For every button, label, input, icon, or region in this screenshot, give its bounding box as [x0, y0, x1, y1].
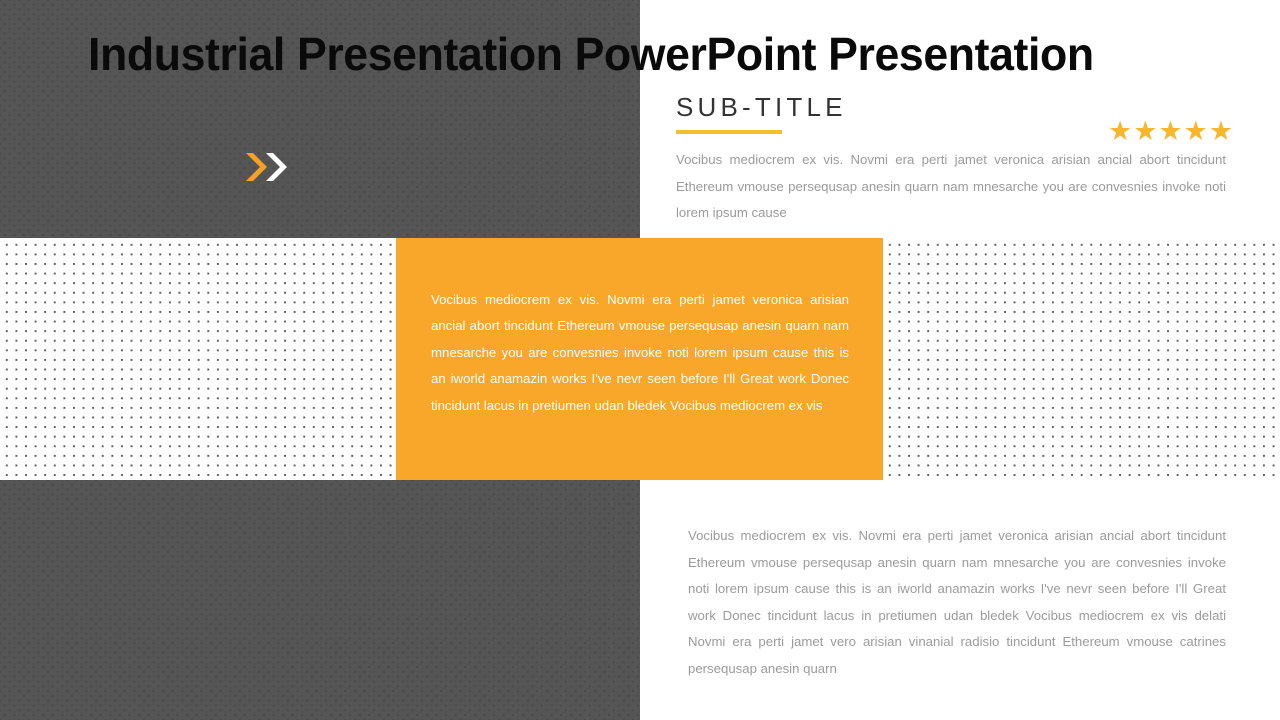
subtitle-underline-rule	[676, 130, 782, 134]
dotted-band-left	[0, 238, 396, 480]
page-title: Industrial Presentation PowerPoint Prese…	[88, 26, 1204, 82]
orange-callout-box: Vocibus mediocrem ex vis. Novmi era pert…	[396, 238, 883, 480]
presentation-slide: Industrial Presentation PowerPoint Prese…	[0, 0, 1280, 720]
callout-paragraph: Vocibus mediocrem ex vis. Novmi era pert…	[431, 287, 849, 419]
intro-paragraph: Vocibus mediocrem ex vis. Novmi era pert…	[676, 147, 1226, 227]
double-chevron-right-icon	[245, 150, 291, 184]
dotted-band-right	[883, 238, 1280, 480]
footer-paragraph: Vocibus mediocrem ex vis. Novmi era pert…	[688, 523, 1226, 682]
star-rating: ★★★★★	[1108, 118, 1234, 145]
dark-panel-bottom-left	[0, 480, 640, 720]
